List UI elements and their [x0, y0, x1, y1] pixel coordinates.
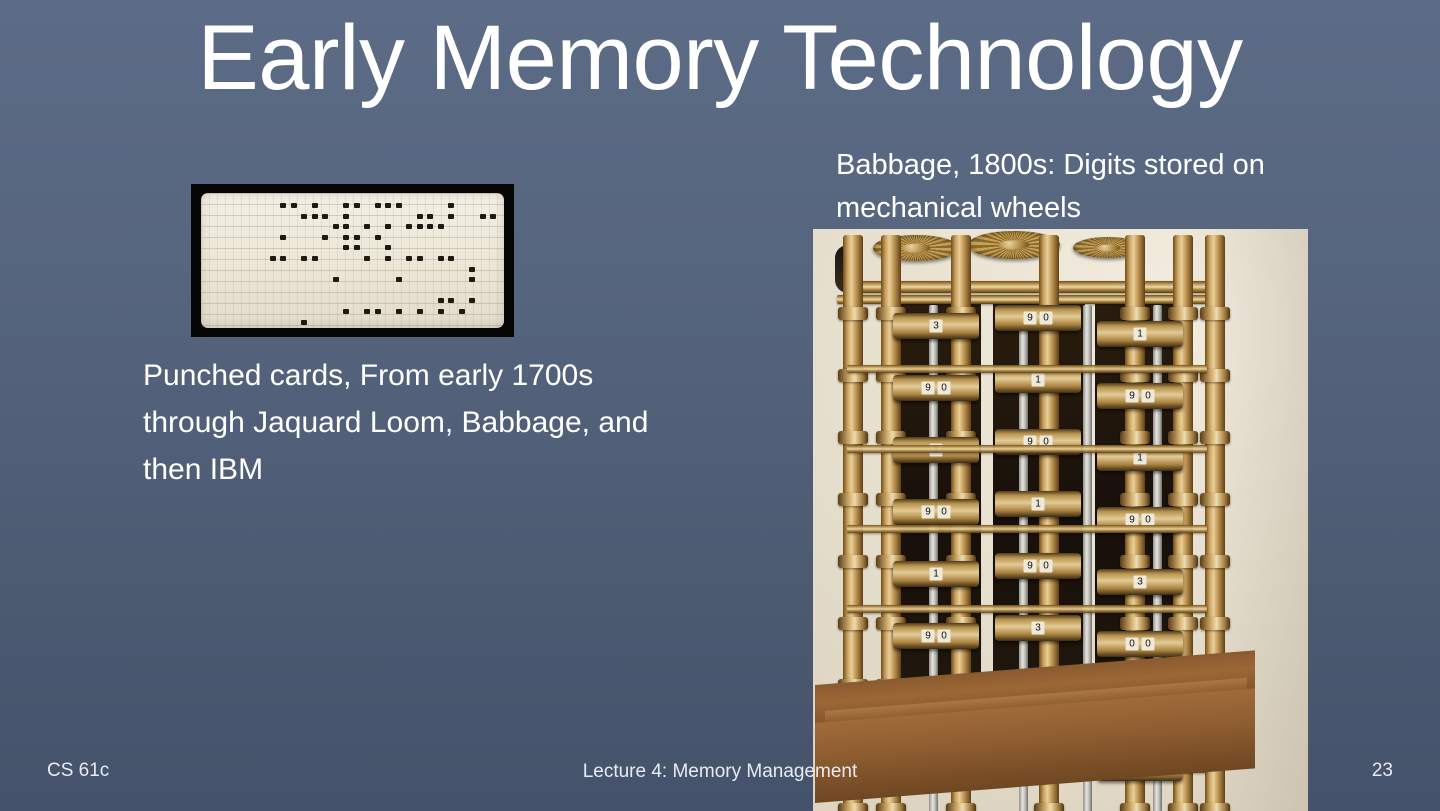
punch-hole	[438, 256, 444, 261]
punch-hole	[427, 214, 433, 219]
punch-hole	[280, 256, 286, 261]
wheel-digit-group: 3	[1134, 576, 1147, 589]
wheel-digit-group: 90	[1024, 312, 1053, 325]
column-ring	[1120, 307, 1150, 320]
punch-hole	[417, 224, 423, 229]
column-ring	[1200, 555, 1230, 568]
punch-hole	[322, 235, 328, 240]
digit-wheel: 90	[995, 305, 1081, 331]
punch-hole	[343, 214, 349, 219]
punch-hole	[490, 214, 496, 219]
punch-hole	[364, 309, 370, 314]
punch-hole	[438, 309, 444, 314]
digit-wheel: 90	[995, 553, 1081, 579]
wheel-digit: 0	[938, 506, 951, 519]
wheel-digit-group: 90	[922, 506, 951, 519]
engine-wooden-base	[815, 685, 1255, 803]
wheel-digit: 1	[1134, 328, 1147, 341]
punch-hole	[291, 203, 297, 208]
wheel-digit: 9	[1024, 312, 1037, 325]
punch-hole	[354, 235, 360, 240]
punch-hole	[417, 309, 423, 314]
wheel-digit-group: 90	[1024, 560, 1053, 573]
horizontal-tie-bar	[847, 605, 1207, 613]
digit-wheel: 90	[893, 623, 979, 649]
babbage-caption: Babbage, 1800s: Digits stored on mechani…	[836, 144, 1306, 230]
punch-hole	[448, 214, 454, 219]
wheel-digit: 9	[922, 382, 935, 395]
wheel-digit-group: 90	[1126, 390, 1155, 403]
wheel-digit-group: 1	[1134, 452, 1147, 465]
punch-hole	[280, 235, 286, 240]
punch-hole	[385, 256, 391, 261]
column-ring	[1200, 617, 1230, 630]
punched-card-photo	[191, 184, 514, 337]
punch-hole	[406, 224, 412, 229]
wheel-digit: 1	[1134, 452, 1147, 465]
punch-hole	[396, 203, 402, 208]
footer-page-number: 23	[1372, 760, 1393, 782]
punch-hole	[354, 203, 360, 208]
wheel-digit: 0	[1126, 638, 1139, 651]
punch-hole	[427, 224, 433, 229]
punch-hole	[354, 245, 360, 250]
punch-hole	[270, 256, 276, 261]
wheel-digit-group: 1	[930, 568, 943, 581]
wheel-digit: 0	[1040, 560, 1053, 573]
digit-wheel: 3	[995, 615, 1081, 641]
punch-hole	[385, 203, 391, 208]
punch-hole	[301, 214, 307, 219]
column-ring	[838, 617, 868, 630]
punch-hole	[396, 277, 402, 282]
punch-hole	[364, 224, 370, 229]
column-ring	[838, 493, 868, 506]
column-ring	[838, 431, 868, 444]
horizontal-tie-bar	[847, 365, 1207, 373]
gear-hub	[1096, 244, 1120, 251]
digit-wheel: 00	[1097, 631, 1183, 657]
punch-hole	[385, 224, 391, 229]
punched-card-caption: Punched cards, From early 1700s through …	[143, 352, 703, 493]
page-title: Early Memory Technology	[0, 6, 1440, 112]
wheel-digit: 0	[1142, 390, 1155, 403]
punch-hole	[448, 298, 454, 303]
punch-hole	[459, 309, 465, 314]
digit-wheel: 1	[893, 561, 979, 587]
punch-hole	[469, 277, 475, 282]
punch-hole	[480, 214, 486, 219]
digit-wheel: 1	[995, 491, 1081, 517]
punch-hole	[375, 203, 381, 208]
digit-wheel: 3	[1097, 569, 1183, 595]
punch-hole	[333, 224, 339, 229]
wheel-digit: 9	[1126, 390, 1139, 403]
punch-hole	[343, 203, 349, 208]
punch-hole	[438, 298, 444, 303]
column-ring	[838, 803, 868, 811]
footer-lecture-title: Lecture 4: Memory Management	[0, 761, 1440, 783]
digit-wheel: 90	[893, 375, 979, 401]
punch-hole	[406, 256, 412, 261]
punch-hole	[343, 309, 349, 314]
wheel-digit: 3	[1134, 576, 1147, 589]
punch-hole	[312, 256, 318, 261]
wheel-digit: 1	[930, 568, 943, 581]
column-ring	[1034, 803, 1064, 811]
wheel-digit: 9	[922, 506, 935, 519]
punch-hole	[448, 203, 454, 208]
punch-hole	[322, 214, 328, 219]
wheel-digit: 0	[1142, 638, 1155, 651]
punch-hole	[438, 224, 444, 229]
wheel-digit: 3	[1032, 622, 1045, 635]
horizontal-tie-bar	[847, 445, 1207, 453]
punch-hole	[312, 203, 318, 208]
punch-hole	[417, 214, 423, 219]
digit-wheel: 90	[1097, 383, 1183, 409]
punch-hole	[301, 320, 307, 325]
wheel-digit-group: 90	[922, 382, 951, 395]
wheel-digit: 9	[922, 630, 935, 643]
slide: Early Memory Technology Punched cards, F…	[0, 0, 1440, 811]
punch-hole	[417, 256, 423, 261]
column-ring	[1168, 307, 1198, 320]
wheel-digit-group: 1	[1032, 374, 1045, 387]
digit-wheel: 90	[893, 499, 979, 525]
wheel-digit: 3	[930, 320, 943, 333]
wheel-digit-group: 1	[1134, 328, 1147, 341]
column-ring	[1200, 431, 1230, 444]
digit-wheel: 1	[1097, 321, 1183, 347]
column-ring	[1200, 307, 1230, 320]
wheel-digit-group: 1	[1032, 498, 1045, 511]
punch-hole	[280, 203, 286, 208]
column-ring	[838, 307, 868, 320]
digit-wheel: 3	[893, 313, 979, 339]
punch-hole	[343, 235, 349, 240]
gear-hub	[901, 244, 930, 253]
wheel-digit: 9	[1024, 560, 1037, 573]
top-crossbar	[847, 281, 1219, 293]
punch-hole	[343, 224, 349, 229]
babbage-difference-engine-photo: 390190190300901901903003190190300390	[813, 229, 1308, 811]
punch-hole	[448, 256, 454, 261]
column-ring	[1200, 493, 1230, 506]
punch-hole	[312, 214, 318, 219]
punched-card-surface	[201, 193, 504, 328]
gear-hub	[998, 240, 1029, 249]
wheel-digit: 1	[1032, 374, 1045, 387]
punch-hole	[375, 309, 381, 314]
wheel-digit-group: 3	[930, 320, 943, 333]
punch-hole	[301, 256, 307, 261]
column-ring	[838, 555, 868, 568]
wheel-digit: 0	[938, 630, 951, 643]
punch-hole	[469, 267, 475, 272]
wheel-digit: 1	[1032, 498, 1045, 511]
wheel-digit-group: 3	[1032, 622, 1045, 635]
column-ring	[1200, 803, 1230, 811]
punch-hole	[333, 277, 339, 282]
wheel-digit-group: 00	[1126, 638, 1155, 651]
punch-hole	[469, 298, 475, 303]
punch-hole	[396, 309, 402, 314]
wheel-digit: 0	[1040, 312, 1053, 325]
punch-hole	[385, 245, 391, 250]
punch-hole	[364, 256, 370, 261]
horizontal-tie-bar	[847, 525, 1207, 533]
punch-hole	[375, 235, 381, 240]
wheel-digit: 0	[938, 382, 951, 395]
punch-hole	[343, 245, 349, 250]
wheel-digit-group: 90	[922, 630, 951, 643]
